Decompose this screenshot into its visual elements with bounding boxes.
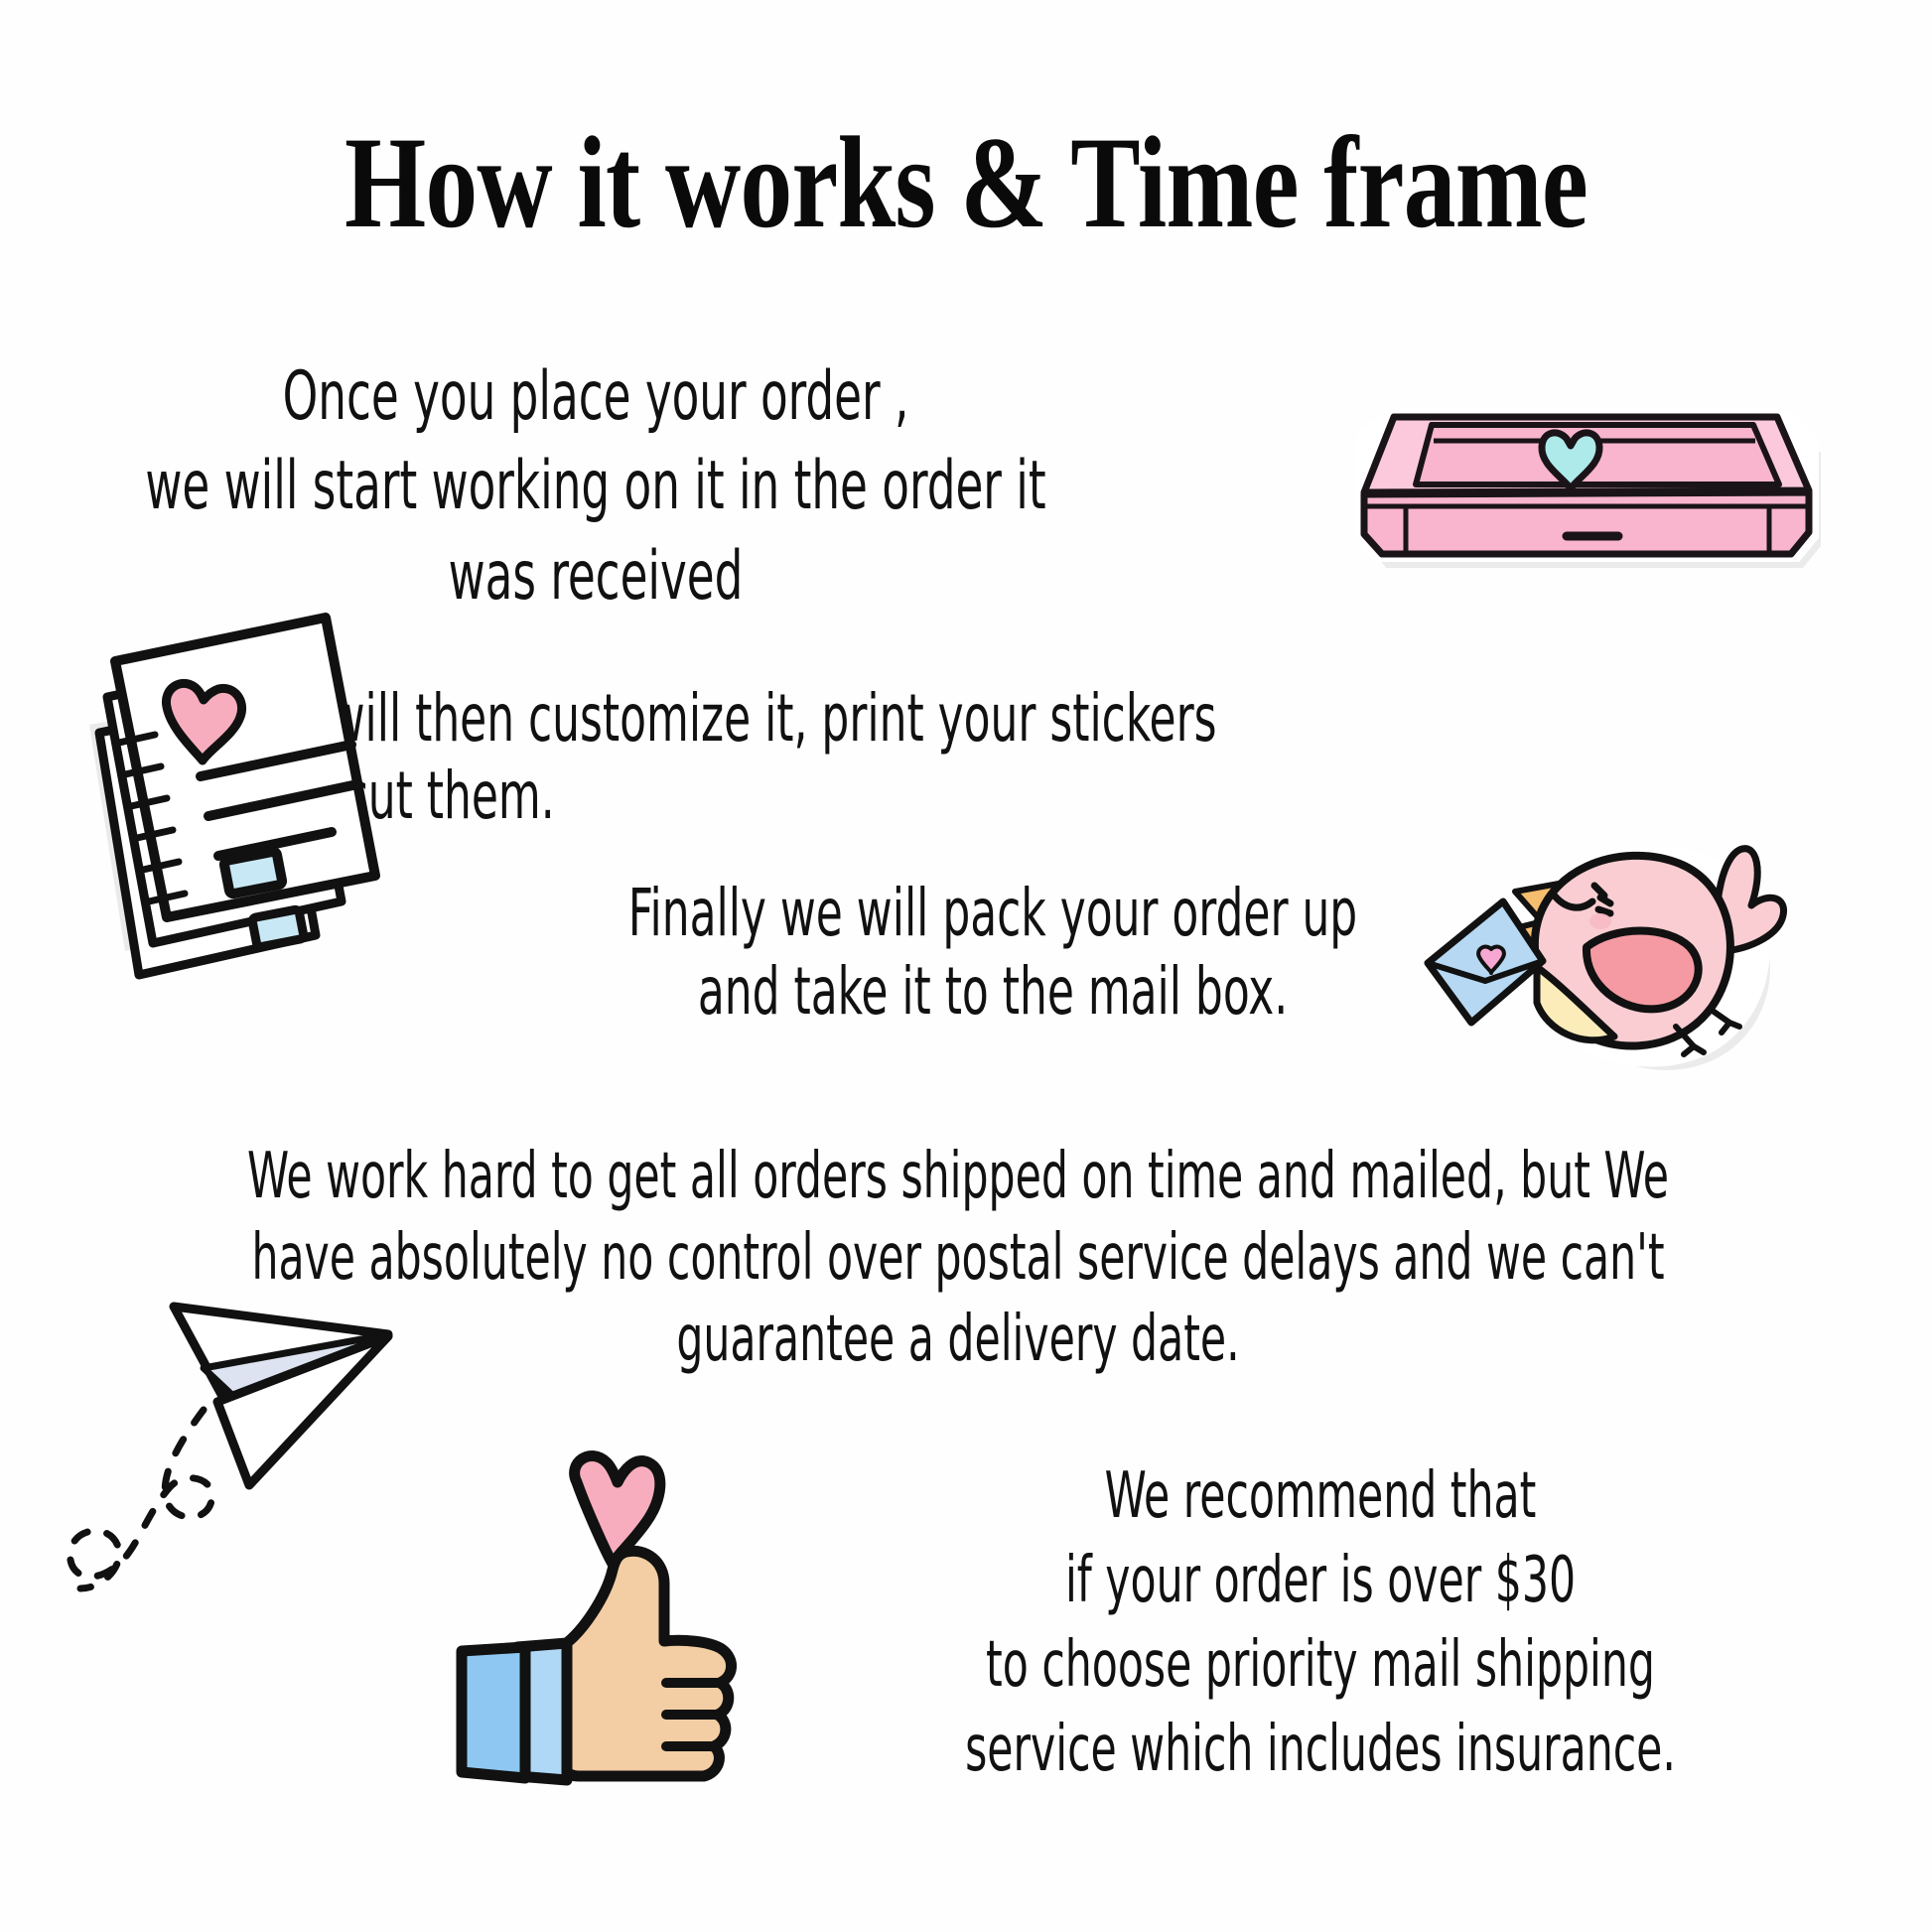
page-title: How it works & Time frame: [194, 117, 1739, 248]
paper-airplane-illustration: [55, 1291, 392, 1648]
heart-icon: [575, 1455, 660, 1564]
paragraph-customize: We will then customize it, print your st…: [248, 680, 1424, 835]
paragraph-priority-mail-recommendation: We recommend that if your order is over …: [696, 1454, 1932, 1792]
paragraph-pack-and-mail: Finally we will pack your order up and t…: [405, 874, 1581, 1031]
paragraph-shipping-disclaimer: We work hard to get all orders shipped o…: [206, 1137, 1712, 1381]
sticker-sheets-illustration: [60, 586, 417, 1023]
infographic-page: How it works & Time frame Once you place…: [0, 0, 1932, 1932]
pink-cutting-machine-illustration: [1320, 367, 1837, 586]
paragraph-order-received: Once you place your order , we will star…: [45, 352, 1147, 621]
mail-bird-illustration: [1420, 814, 1817, 1102]
